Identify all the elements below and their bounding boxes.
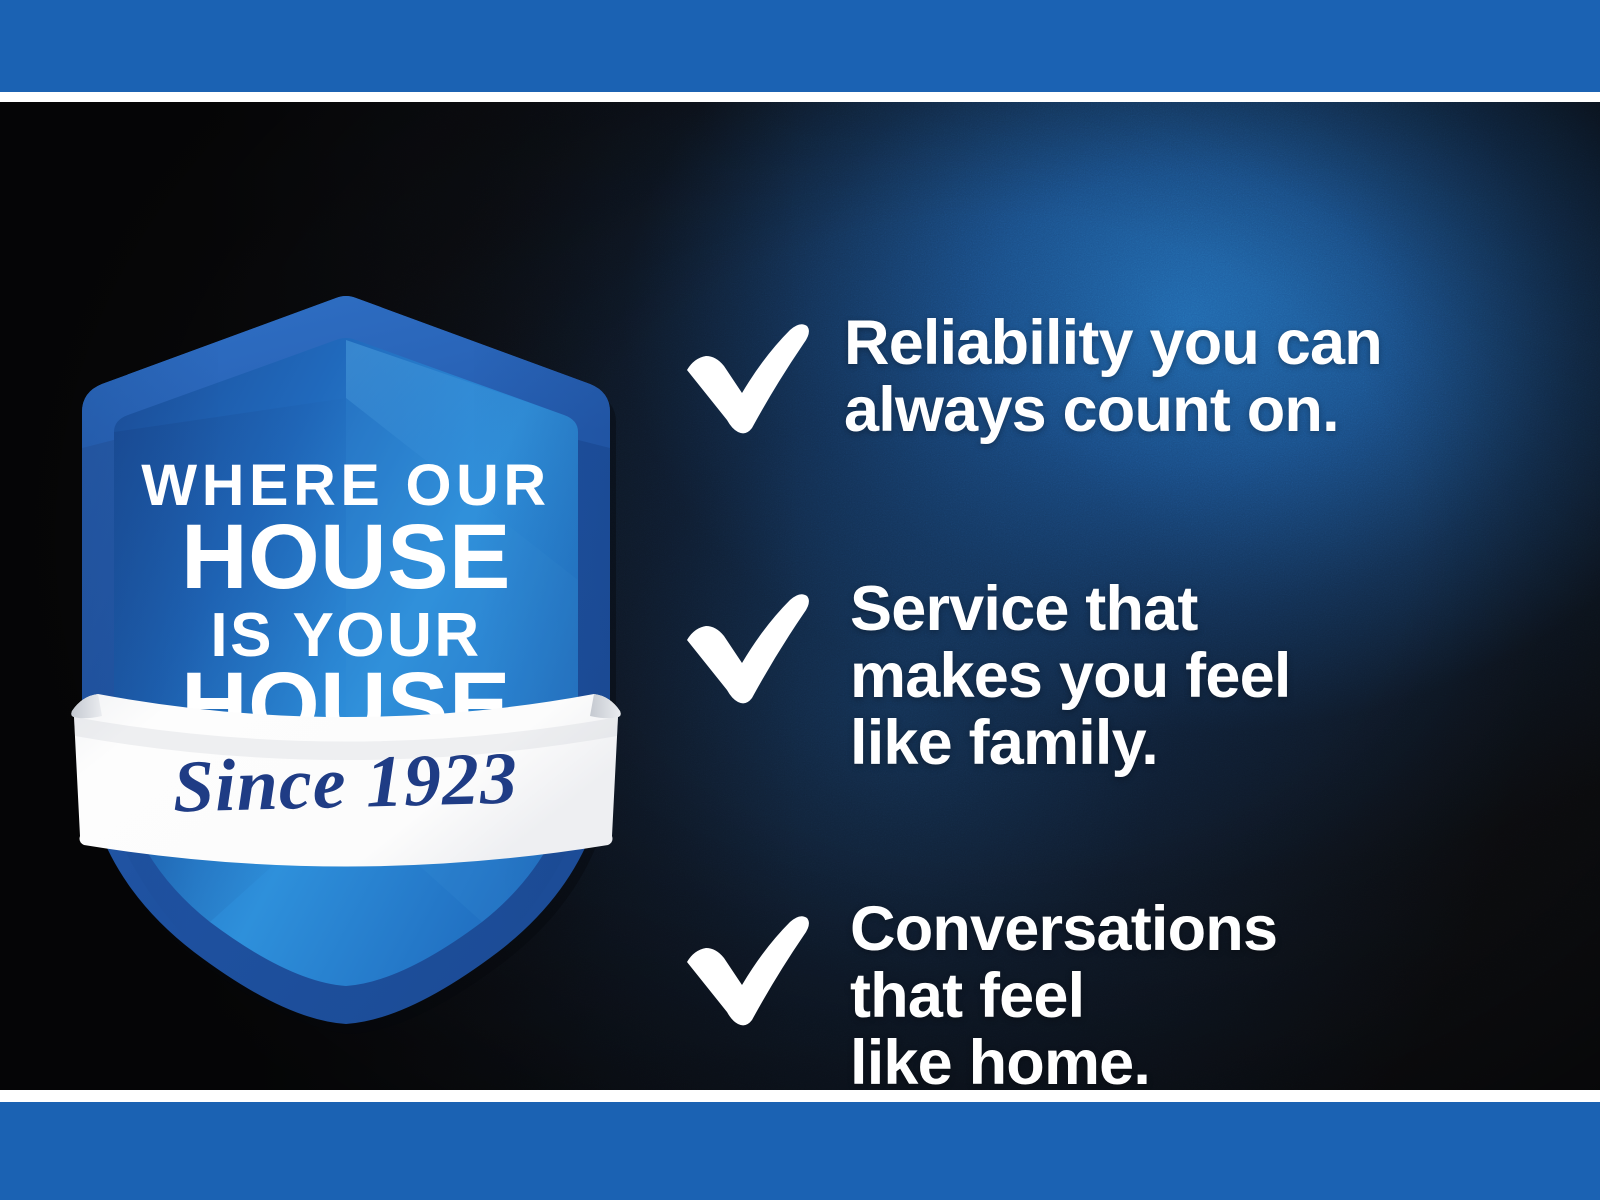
top-brand-bar [0, 0, 1600, 92]
check-icon [680, 314, 812, 434]
brand-shield-logo: WHERE OUR HOUSE IS YOUR HOUSE Since 1923 [68, 280, 624, 1040]
shield-line-2: HOUSE [181, 506, 511, 608]
benefit-list: Reliability you can always count on. Ser… [672, 206, 1572, 1086]
banner-fold-right [590, 694, 621, 718]
since-banner: Since 1923 [69, 694, 624, 867]
check-icon [680, 584, 812, 704]
bottom-brand-bar [0, 1102, 1600, 1200]
benefit-text: Service that makes you feel like family. [850, 576, 1570, 777]
banner-fold-left [71, 694, 102, 718]
promo-graphic: WHERE OUR HOUSE IS YOUR HOUSE Since 1923 [0, 0, 1600, 1200]
benefit-text: Reliability you can always count on. [844, 310, 1564, 444]
check-icon [680, 906, 812, 1026]
main-stage: WHERE OUR HOUSE IS YOUR HOUSE Since 1923 [0, 102, 1600, 1090]
benefit-text: Conversations that feel like home. [850, 896, 1570, 1090]
banner-since-text: Since 1923 [172, 738, 519, 829]
